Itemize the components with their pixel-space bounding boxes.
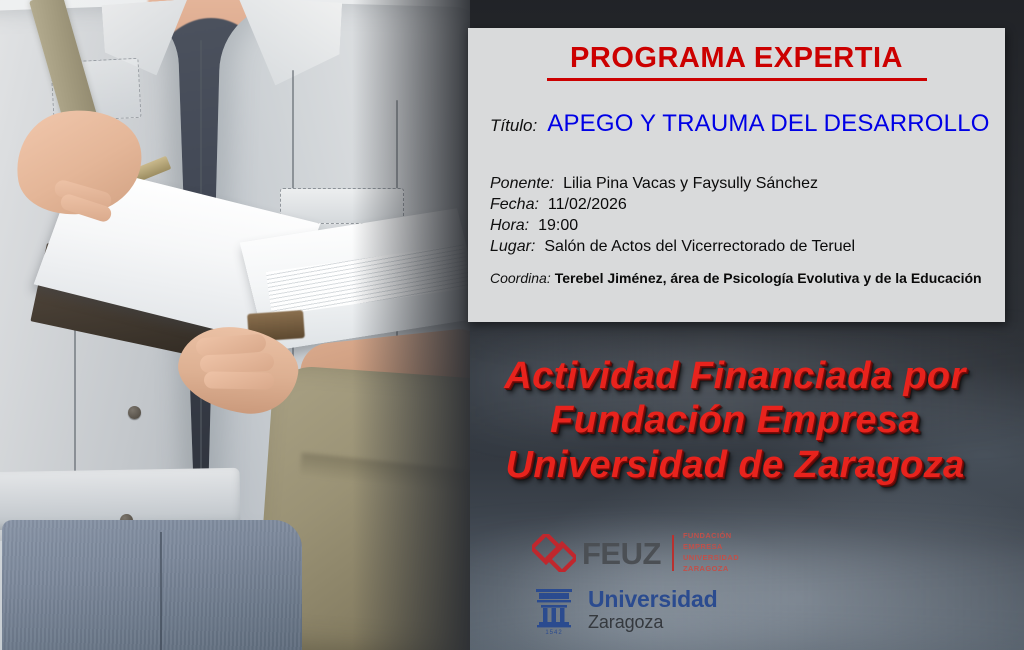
unizar-wordmark: Universidad Zaragoza xyxy=(588,588,717,631)
unizar-line-2: Zaragoza xyxy=(588,613,717,631)
feuz-sub-line-3: UNIVERSIDAD xyxy=(683,553,739,564)
feuz-diamond-icon xyxy=(532,534,576,572)
photo-jeans xyxy=(2,520,302,650)
fecha-label: Fecha: xyxy=(490,196,539,214)
titulo-row: Título: APEGO Y TRAUMA DEL DESARROLLO xyxy=(490,110,1005,138)
event-info-panel: PROGRAMA EXPERTIA Título: APEGO Y TRAUMA… xyxy=(468,28,1005,322)
feuz-subtitle: FUNDACIÓN EMPRESA UNIVERSIDAD ZARAGOZA xyxy=(683,531,739,575)
titulo-label: Título: xyxy=(490,116,537,136)
photo-finger-d xyxy=(200,353,275,374)
detail-row-lugar: Lugar: Salón de Actos del Vicerrectorado… xyxy=(490,238,1005,256)
university-building-icon: 1542 xyxy=(532,583,576,635)
funding-headline: Actividad Financiada por Fundación Empre… xyxy=(452,354,1018,487)
feuz-logo: FEUZ FUNDACIÓN EMPRESA UNIVERSIDAD ZARAG… xyxy=(532,530,792,576)
event-details-list: Ponente: Lilia Pina Vacas y Faysully Sán… xyxy=(490,175,1005,256)
hora-label: Hora: xyxy=(490,217,529,235)
coordina-value: Terebel Jiménez, área de Psicología Evol… xyxy=(555,270,982,286)
lugar-value: Salón de Actos del Vicerrectorado de Ter… xyxy=(544,238,855,256)
man-reading-book-photo xyxy=(0,0,470,650)
program-title-underline xyxy=(547,78,927,81)
coordina-label: Coordina: xyxy=(490,270,551,286)
feuz-sub-line-4: ZARAGOZA xyxy=(683,564,739,575)
photo-jacket-button-upper xyxy=(128,406,141,419)
funding-line-1: Actividad Financiada por xyxy=(452,354,1018,398)
unizar-logo: 1542 Universidad Zaragoza xyxy=(532,583,792,635)
titulo-value: APEGO Y TRAUMA DEL DESARROLLO xyxy=(547,110,989,138)
feuz-divider xyxy=(672,535,674,571)
hora-value: 19:00 xyxy=(538,217,578,235)
ponente-value: Lilia Pina Vacas y Faysully Sánchez xyxy=(563,175,818,193)
fecha-value: 11/02/2026 xyxy=(548,196,627,214)
photo-right-fade xyxy=(352,0,470,650)
unizar-founding-year: 1542 xyxy=(545,630,562,635)
feuz-sub-line-1: FUNDACIÓN xyxy=(683,531,739,542)
logo-group: FEUZ FUNDACIÓN EMPRESA UNIVERSIDAD ZARAG… xyxy=(532,530,792,635)
coordina-row: Coordina: Terebel Jiménez, área de Psico… xyxy=(490,270,1005,286)
poster-canvas: PROGRAMA EXPERTIA Título: APEGO Y TRAUMA… xyxy=(0,0,1024,650)
detail-row-ponente: Ponente: Lilia Pina Vacas y Faysully Sán… xyxy=(490,175,1005,193)
feuz-sub-line-2: EMPRESA xyxy=(683,542,739,553)
funding-line-2: Fundación Empresa xyxy=(452,398,1018,442)
detail-row-fecha: Fecha: 11/02/2026 xyxy=(490,196,1005,214)
ponente-label: Ponente: xyxy=(490,175,554,193)
lugar-label: Lugar: xyxy=(490,238,535,256)
program-title: PROGRAMA EXPERTIA xyxy=(468,42,1005,75)
feuz-wordmark: FEUZ xyxy=(582,538,661,569)
unizar-line-1: Universidad xyxy=(588,588,717,611)
photo-finger-e xyxy=(204,371,274,389)
funding-line-3: Universidad de Zaragoza xyxy=(452,443,1018,487)
detail-row-hora: Hora: 19:00 xyxy=(490,217,1005,235)
photo-jeans-seam xyxy=(160,532,162,650)
